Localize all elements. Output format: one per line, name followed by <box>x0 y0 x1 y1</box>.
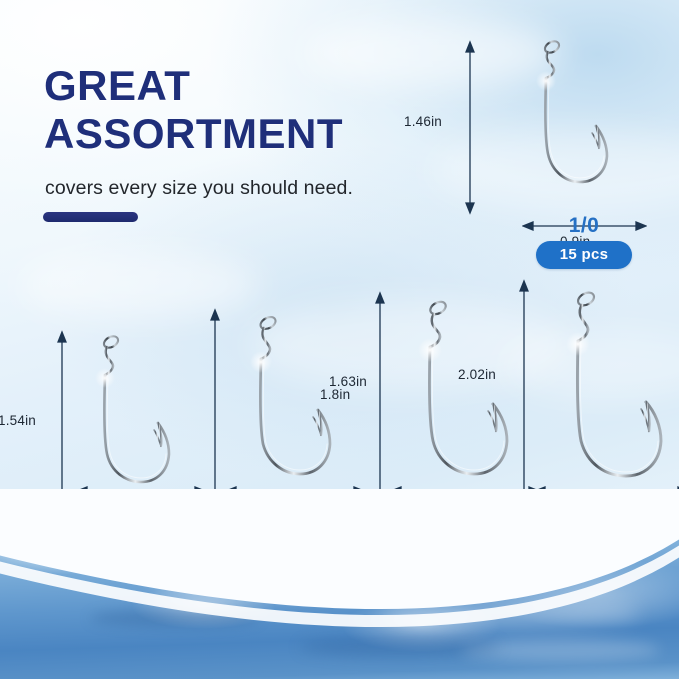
page-subtitle: covers every size you should need. <box>45 177 353 200</box>
height-label-1-0: 1.46in <box>404 114 442 129</box>
hook-illustration-1-0 <box>466 36 666 206</box>
size-label-1-0: 1/0 <box>546 214 622 238</box>
infographic-canvas: GREAT ASSORTMENT covers every size you s… <box>0 0 679 679</box>
quantity-badge-1-0[interactable]: 15 pcs <box>536 241 632 269</box>
title-accent-bar <box>43 212 138 222</box>
height-label-4-0: 1.8in <box>320 387 350 402</box>
hook-card-1-0: 1.46in 0.9in 1/0 15 pcs <box>466 36 666 261</box>
water-photo-band <box>0 489 679 679</box>
height-label-5-0: 2.02in <box>458 367 496 382</box>
height-dimension-arrow-5-0 <box>504 279 544 514</box>
page-title: GREAT ASSORTMENT <box>44 62 343 158</box>
height-label-2-0: 1.54in <box>0 413 36 428</box>
hook-illustration-5-0 <box>538 285 679 490</box>
height-dimension-arrow-3-0 <box>195 308 235 508</box>
height-dimension-arrow-4-0 <box>360 291 400 509</box>
water-texture <box>0 489 679 679</box>
height-dimension-arrow-1-0 <box>450 40 490 215</box>
